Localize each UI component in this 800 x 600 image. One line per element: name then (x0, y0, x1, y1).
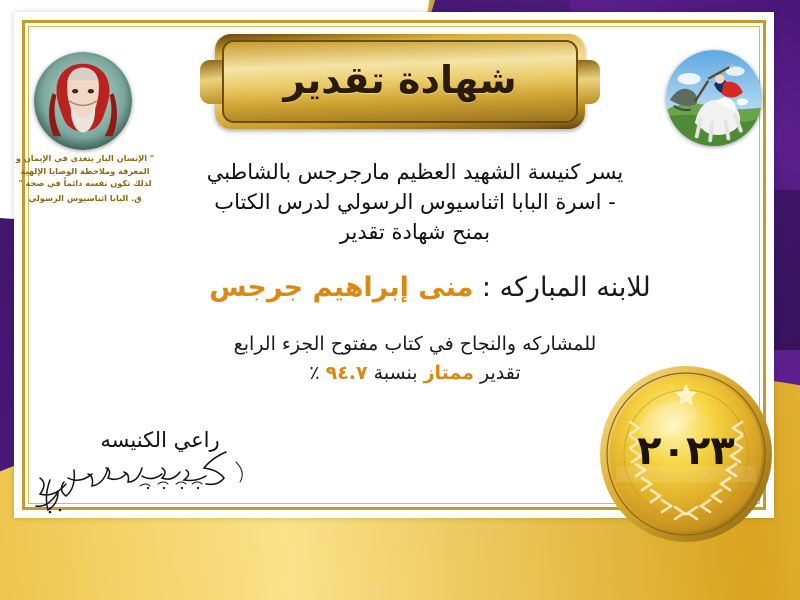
handwritten-signature-icon (30, 450, 290, 524)
quote-text: " الإنسان البار يتغذى في الإيمان و المعر… (10, 152, 160, 190)
signature-label: راعي الكنيسه (30, 428, 290, 452)
recipient-label: للابنه المباركه : (482, 272, 651, 303)
grade-line: تقدير ممتاز بنسبة ٩٤.٧ ٪ (180, 359, 650, 388)
certificate-canvas: شهادة تقدير " الإنسان البا (0, 0, 800, 600)
title-plaque: شهادة تقدير (215, 34, 585, 129)
achievement-block: للمشاركه والنجاح في كتاب مفتوح الجزء الر… (180, 330, 650, 387)
percent-label: بنسبة (374, 362, 418, 384)
quote-attribution: ق. البابا اثناسيوس الرسولي (10, 192, 160, 205)
grade-value: ممتاز (424, 362, 474, 384)
saint-athanasius-portrait-icon (34, 52, 132, 150)
certificate-year: ٢٠٢٣ (596, 428, 776, 474)
body-line-1: يسر كنيسة الشهيد العظيم مارجرجس بالشاطبي (180, 158, 650, 188)
certificate-title: شهادة تقدير (283, 61, 516, 103)
recipient-name: منى إبراهيم جرجس (209, 272, 473, 303)
body-line-2: - اسرة البابا اثناسيوس الرسولي لدرس الكت… (180, 188, 650, 218)
plaque-inner: شهادة تقدير (222, 40, 578, 123)
saint-quote: " الإنسان البار يتغذى في الإيمان و المعر… (10, 152, 160, 205)
signature-block: راعي الكنيسه (30, 428, 290, 524)
recipient-line: للابنه المباركه : منى إبراهيم جرجس (160, 272, 700, 303)
percent-symbol: ٪ (309, 362, 319, 384)
saint-george-dragon-icon (666, 50, 762, 146)
grade-prefix: تقدير (480, 362, 521, 384)
certificate-body: يسر كنيسة الشهيد العظيم مارجرجس بالشاطبي… (180, 158, 650, 247)
body-line-3: بمنح شهادة تقدير (180, 218, 650, 248)
gold-medal-seal-icon: ٢٠٢٣ (596, 362, 776, 542)
achievement-line: للمشاركه والنجاح في كتاب مفتوح الجزء الر… (180, 330, 650, 359)
percent-value: ٩٤.٧ (326, 362, 368, 384)
